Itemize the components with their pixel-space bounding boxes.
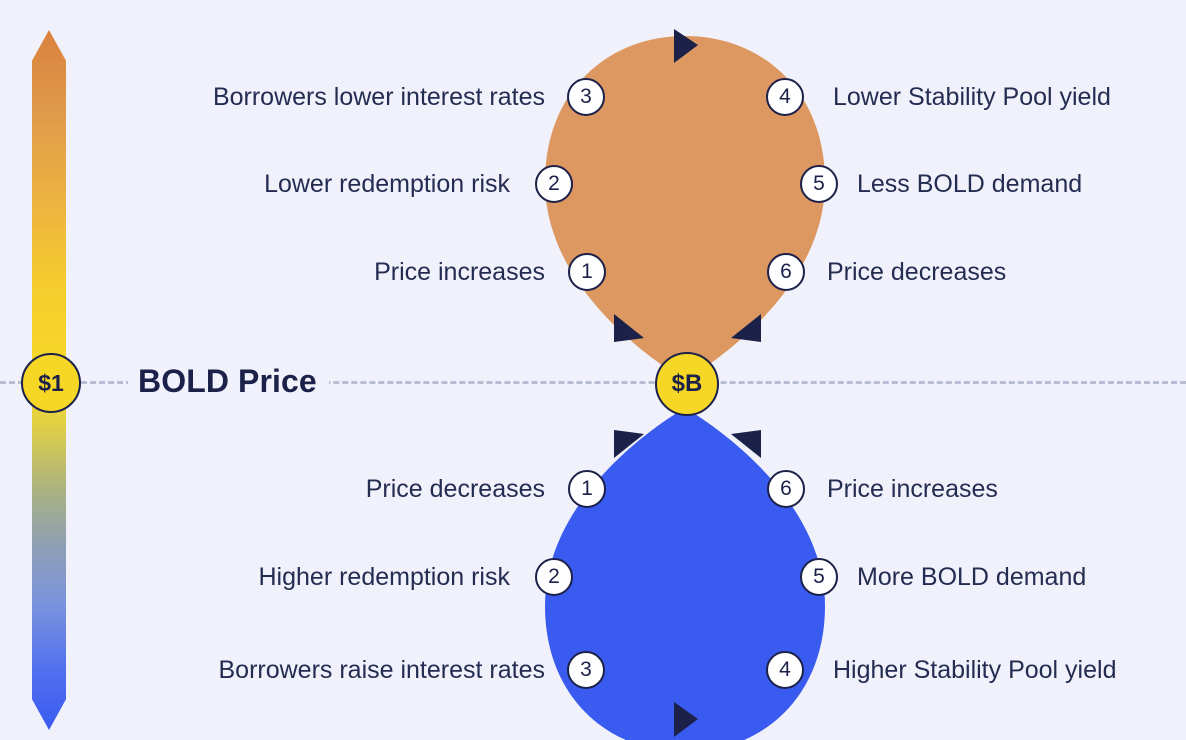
above-peg-step-2-label: Lower redemption risk (150, 165, 510, 203)
above-peg-step-4-label: Lower Stability Pool yield (833, 78, 1111, 116)
peg-price-badge: $1 (21, 353, 81, 413)
above-peg-step-6-number: 6 (767, 253, 805, 291)
below-peg-step-6-label: Price increases (827, 470, 998, 508)
below-peg-flow-arrow-bottom (670, 699, 704, 740)
above-peg-step-5-number: 5 (800, 165, 838, 203)
below-peg-step-2-number: 2 (535, 558, 573, 596)
below-peg-flow-arrow-right (725, 424, 765, 464)
below-peg-step-4-label: Higher Stability Pool yield (833, 651, 1116, 689)
bold-price-badge: $B (655, 352, 719, 416)
above-peg-step-1-number: 1 (568, 253, 606, 291)
above-peg-step-4-number: 4 (766, 78, 804, 116)
above-peg-flow-arrow-left (610, 308, 650, 348)
below-peg-step-5-label: More BOLD demand (857, 558, 1086, 596)
above-peg-flow-arrow-top (670, 27, 704, 67)
page-title: BOLD Price (128, 358, 329, 404)
above-peg-step-3-label: Borrowers lower interest rates (155, 78, 545, 116)
above-peg-step-3-number: 3 (567, 78, 605, 116)
above-peg-flow-arrow-right (725, 308, 765, 348)
below-peg-step-6-number: 6 (767, 470, 805, 508)
below-peg-step-2-label: Higher redemption risk (150, 558, 510, 596)
below-peg-step-5-number: 5 (800, 558, 838, 596)
below-peg-step-3-number: 3 (567, 651, 605, 689)
above-peg-step-6-label: Price decreases (827, 253, 1006, 291)
above-peg-step-2-number: 2 (535, 165, 573, 203)
below-peg-step-1-number: 1 (568, 470, 606, 508)
diagram-canvas: $1 $B BOLD Price Borrowers lower interes… (0, 0, 1186, 740)
below-peg-step-1-label: Price decreases (200, 470, 545, 508)
below-peg-step-3-label: Borrowers raise interest rates (155, 651, 545, 689)
above-peg-step-1-label: Price increases (200, 253, 545, 291)
below-peg-flow-arrow-left (610, 424, 650, 464)
above-peg-step-5-label: Less BOLD demand (857, 165, 1082, 203)
below-peg-step-4-number: 4 (766, 651, 804, 689)
